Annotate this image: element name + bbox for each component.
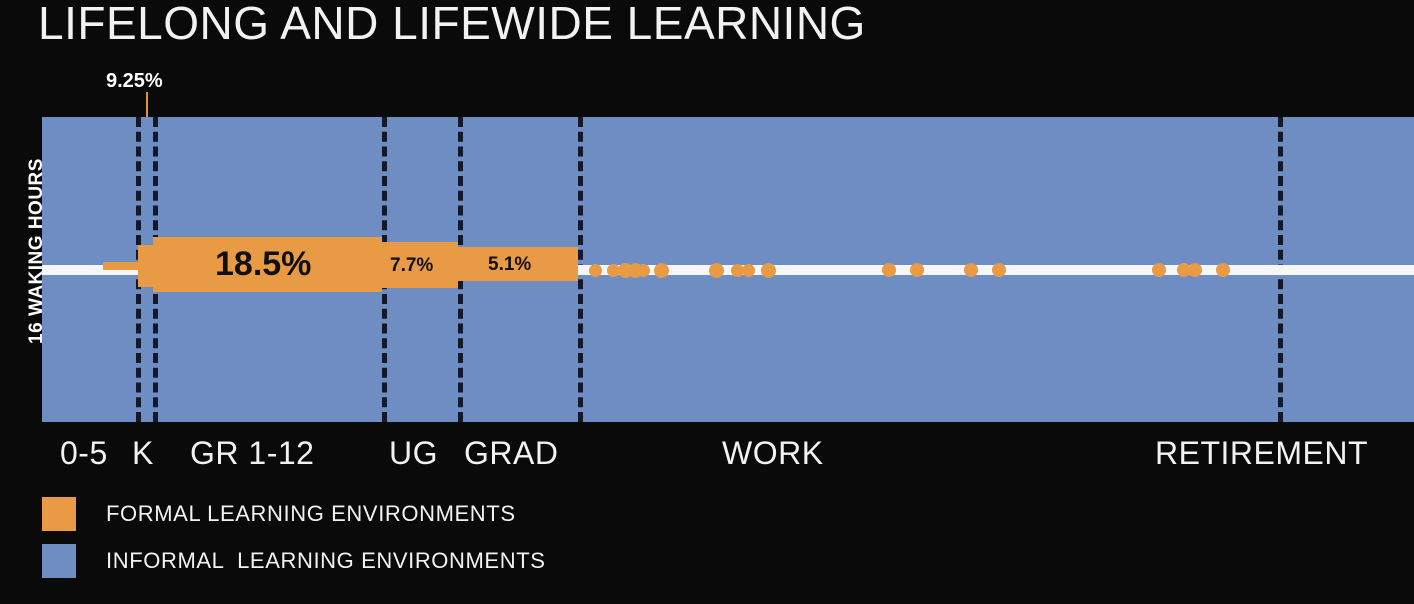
legend-swatch-formal [42,497,76,531]
formal-block-pre-k-bump [138,245,153,287]
bar-label-7-7: 7.7% [390,255,433,277]
formal-dot-9 [761,263,776,278]
callout-label-9-25: 9.25% [106,70,163,93]
legend-row-formal: FORMAL LEARNING ENVIRONMENTS [42,497,516,531]
formal-dot-5 [654,263,669,278]
x-axis-label-gr-1-12: GR 1-12 [190,435,314,472]
formal-dot-4 [637,264,650,277]
formal-dot-0 [589,264,602,277]
formal-dot-6 [709,263,724,278]
formal-dot-14 [1152,263,1166,277]
x-axis-label-0-5: 0-5 [60,435,108,472]
x-axis-label-retirement: RETIREMENT [1155,435,1368,472]
legend-label-formal: FORMAL LEARNING ENVIRONMENTS [106,501,516,527]
formal-dot-17 [1216,263,1230,277]
formal-dot-10 [882,263,896,277]
infographic-root: { "title": "LIFELONG AND LIFEWIDE LEARNI… [0,0,1414,604]
legend-label-informal: INFORMAL LEARNING ENVIRONMENTS [106,548,546,574]
x-axis-label-ug: UG [389,435,438,472]
formal-block-pre-k-thin-line [103,262,143,270]
bar-label-5-1: 5.1% [488,254,531,276]
legend-swatch-informal [42,544,76,578]
formal-dot-16 [1188,263,1202,277]
page-title: LIFELONG AND LIFEWIDE LEARNING [38,0,866,50]
legend-row-informal: INFORMAL LEARNING ENVIRONMENTS [42,544,546,578]
x-axis-label-grad: GRAD [464,435,558,472]
formal-dot-11 [910,263,924,277]
x-axis-label-work: WORK [722,435,824,472]
x-axis-label-k: K [132,435,154,472]
formal-dot-12 [964,263,978,277]
formal-dot-8 [742,264,755,277]
formal-dot-13 [992,263,1006,277]
bar-label-18-5: 18.5% [215,245,311,284]
plot-panel-informal-learning: 18.5% 7.7% 5.1% [42,117,1414,422]
